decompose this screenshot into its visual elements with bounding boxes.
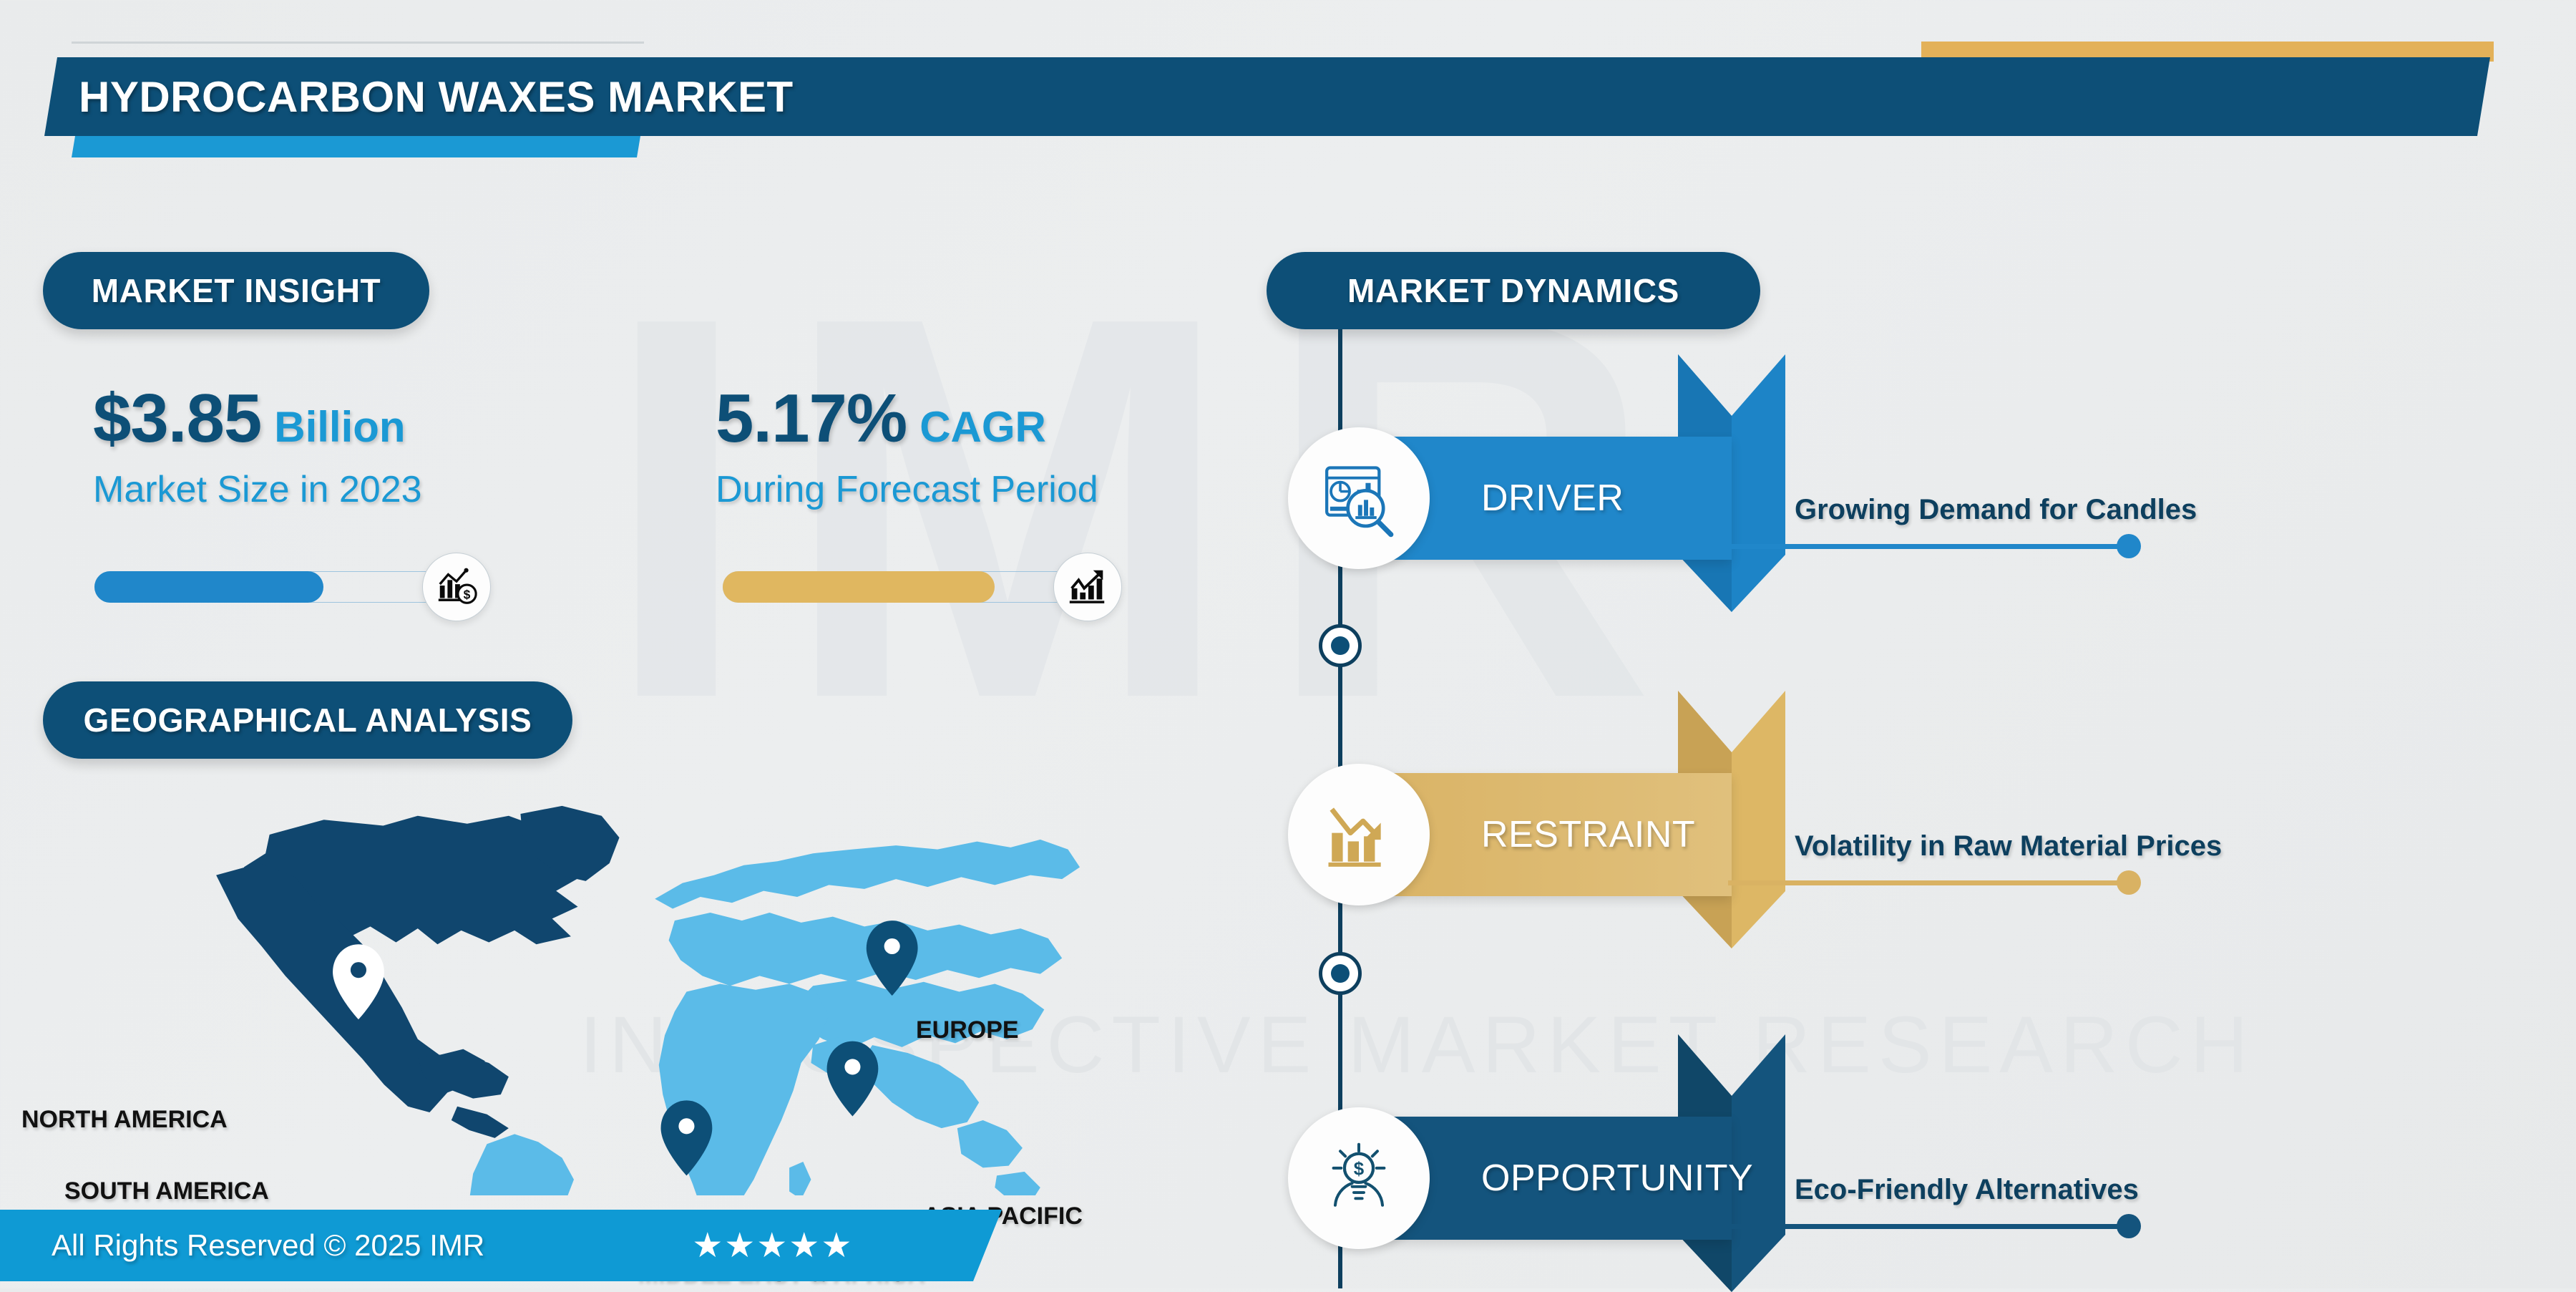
driver-connector-knob bbox=[2117, 534, 2141, 558]
restraint-connector-line bbox=[1728, 880, 2129, 885]
cagr-progress-fill bbox=[723, 571, 995, 603]
footer-star-rating: ★★★★★ bbox=[692, 1225, 853, 1266]
restraint-text: Volatility in Raw Material Prices bbox=[1795, 830, 2222, 863]
section-pill-geographical-analysis: GEOGRAPHICAL ANALYSIS bbox=[43, 681, 572, 759]
map-region-europe bbox=[655, 840, 1080, 986]
market-size-progress: $ bbox=[94, 565, 452, 608]
restraint-band: RESTRAINT bbox=[1331, 773, 1732, 896]
opportunity-connector-line bbox=[1728, 1224, 2129, 1229]
map-region-north-america bbox=[216, 816, 585, 1138]
driver-band: DRIVER bbox=[1331, 437, 1732, 560]
bar-chart-dollar-icon: $ bbox=[422, 553, 491, 621]
dashboard-magnifier-icon bbox=[1288, 427, 1430, 569]
market-size-progress-fill bbox=[94, 571, 323, 603]
page-title: HYDROCARBON WAXES MARKET bbox=[79, 72, 794, 122]
metric-market-size: $3.85 Billion Market Size in 2023 bbox=[93, 379, 422, 511]
map-label-south-america: SOUTH AMERICA bbox=[64, 1177, 269, 1205]
world-map: NORTH AMERICA SOUTH AMERICA EUROPE ASIA … bbox=[107, 780, 1123, 1195]
cagr-caption: During Forecast Period bbox=[716, 468, 1098, 511]
map-label-north-america: NORTH AMERICA bbox=[21, 1106, 228, 1134]
driver-text: Growing Demand for Candles bbox=[1795, 494, 2197, 526]
footer-copyright: All Rights Reserved © 2025 IMR bbox=[52, 1228, 484, 1263]
opportunity-connector-knob bbox=[2117, 1214, 2141, 1238]
restraint-label: RESTRAINT bbox=[1481, 813, 1695, 856]
map-label-europe: EUROPE bbox=[916, 1016, 1019, 1044]
declining-bar-chart-icon bbox=[1288, 764, 1430, 905]
market-size-unit: Billion bbox=[274, 402, 405, 452]
dynamics-timeline-node-2 bbox=[1319, 952, 1362, 995]
world-map-svg bbox=[107, 780, 1123, 1195]
header-blue-underline bbox=[72, 136, 640, 157]
infographic-canvas: IMR INTROSPECTIVE MARKET RESEARCH HYDROC… bbox=[0, 0, 2576, 1288]
section-pill-market-dynamics: MARKET DYNAMICS bbox=[1267, 252, 1760, 329]
dynamics-timeline-node-1 bbox=[1319, 624, 1362, 667]
opportunity-band: OPPORTUNITY $ bbox=[1331, 1117, 1732, 1240]
map-pin-europe bbox=[867, 921, 918, 996]
map-pin-asia-pacific bbox=[827, 1041, 879, 1117]
header-thin-rule bbox=[72, 42, 644, 44]
footer-bar: All Rights Reserved © 2025 IMR ★★★★★ bbox=[0, 1210, 1002, 1281]
growth-arrow-chart-icon bbox=[1053, 553, 1122, 621]
opportunity-label: OPPORTUNITY bbox=[1481, 1157, 1753, 1200]
map-region-south-america bbox=[469, 1134, 574, 1195]
restraint-connector-knob bbox=[2117, 870, 2141, 895]
svg-text:$: $ bbox=[464, 587, 471, 601]
driver-label: DRIVER bbox=[1481, 477, 1624, 520]
cagr-value: 5.17% bbox=[716, 379, 907, 458]
metric-cagr: 5.17% CAGR During Forecast Period bbox=[716, 379, 1098, 511]
cagr-unit: CAGR bbox=[919, 402, 1046, 452]
header-bar: HYDROCARBON WAXES MARKET bbox=[44, 57, 2490, 136]
cagr-progress bbox=[723, 565, 1080, 608]
lightbulb-dollar-icon: $ bbox=[1288, 1107, 1430, 1249]
market-size-value: $3.85 bbox=[93, 379, 261, 458]
section-pill-market-insight: MARKET INSIGHT bbox=[43, 252, 429, 329]
svg-text:$: $ bbox=[1354, 1157, 1365, 1179]
driver-connector-line bbox=[1728, 544, 2129, 549]
market-size-caption: Market Size in 2023 bbox=[93, 468, 422, 511]
opportunity-text: Eco-Friendly Alternatives bbox=[1795, 1174, 2139, 1206]
